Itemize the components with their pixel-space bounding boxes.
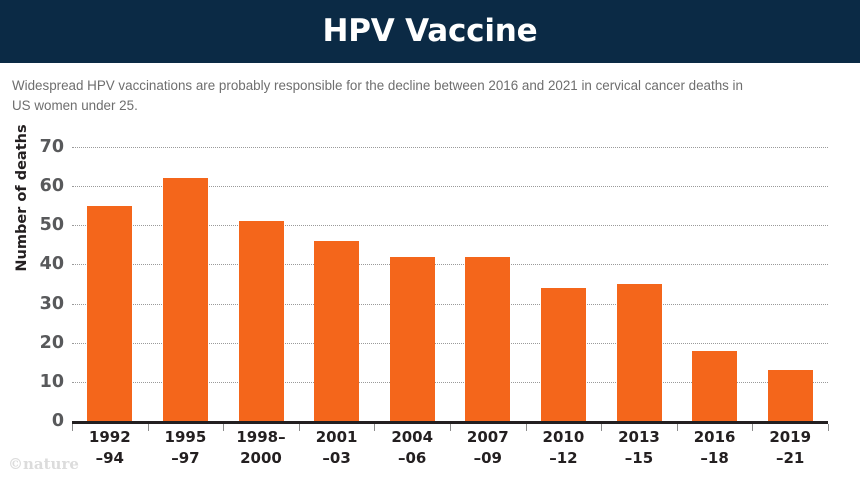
x-axis-tick-mark: [677, 424, 678, 431]
x-axis-tick-label: 2004 –06: [374, 427, 450, 469]
x-axis-tick-label: 2010 –12: [526, 427, 602, 469]
x-axis-tick-label: 1998– 2000: [223, 427, 299, 469]
bar: [617, 284, 662, 421]
y-axis-tick-label: 50: [24, 215, 64, 235]
y-axis-tick-label: 70: [24, 137, 64, 157]
x-axis-tick-mark: [223, 424, 224, 431]
x-axis-tick-label: 2016 –18: [677, 427, 753, 469]
bar: [87, 206, 132, 421]
y-axis-tick-label: 30: [24, 294, 64, 314]
x-axis-tick-mark: [601, 424, 602, 431]
bar: [163, 178, 208, 421]
bar: [390, 257, 435, 421]
x-axis-tick-label: 2013 –15: [601, 427, 677, 469]
x-axis-tick-mark: [526, 424, 527, 431]
x-axis-tick-label: 1995 –97: [148, 427, 224, 469]
x-axis-tick-mark: [752, 424, 753, 431]
x-axis-tick-label: 1992 –94: [72, 427, 148, 469]
y-axis-tick-label: 20: [24, 333, 64, 353]
x-axis-tick-mark: [828, 424, 829, 431]
bar: [465, 257, 510, 421]
x-axis-tick-label: 2019 –21: [752, 427, 828, 469]
y-axis-tick-label: 40: [24, 254, 64, 274]
bar-series: [72, 147, 828, 421]
y-axis-tick-label: 10: [24, 372, 64, 392]
nature-watermark: ©nature: [8, 455, 79, 473]
x-axis-tick-label: 2007 –09: [450, 427, 526, 469]
bar: [314, 241, 359, 421]
bar: [541, 288, 586, 421]
bar: [768, 370, 813, 421]
bar: [239, 221, 284, 421]
x-axis-tick-mark: [374, 424, 375, 431]
x-axis-tick-mark: [450, 424, 451, 431]
y-axis-tick-label: 0: [24, 411, 64, 431]
y-axis-tick-label: 60: [24, 176, 64, 196]
x-axis-tick-label: 2001 –03: [299, 427, 375, 469]
bar: [692, 351, 737, 421]
header-band: HPV Vaccine: [0, 0, 860, 63]
page-title: HPV Vaccine: [323, 16, 538, 47]
x-axis-tick-mark: [72, 424, 73, 431]
x-axis-tick-mark: [299, 424, 300, 431]
x-axis-tick-mark: [148, 424, 149, 431]
y-axis-tick-labels: 706050403020100: [0, 0, 64, 484]
chart-subtitle: Widespread HPV vaccinations are probably…: [12, 76, 754, 116]
chart-figure: HPV Vaccine Widespread HPV vaccinations …: [0, 0, 860, 484]
x-axis-tick-labels: 1992 –941995 –971998– 20002001 –032004 –…: [72, 427, 828, 483]
